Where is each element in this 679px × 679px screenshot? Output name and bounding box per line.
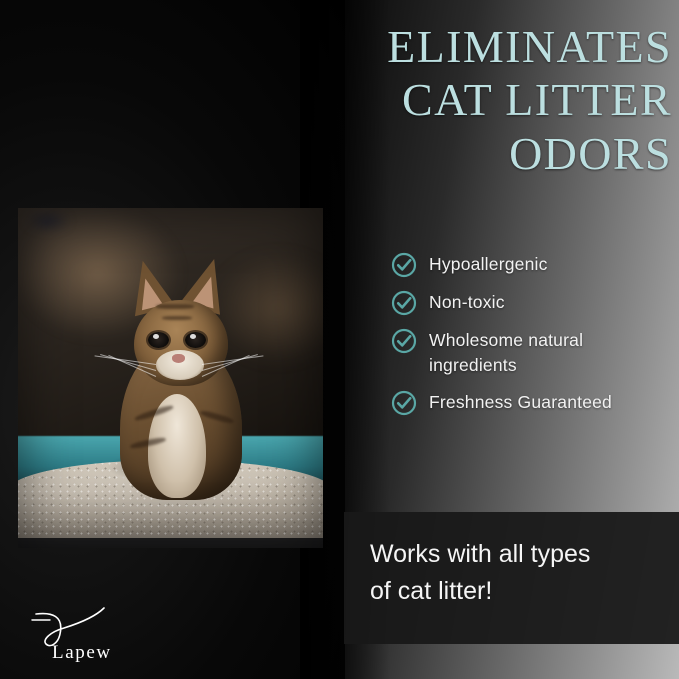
kitten bbox=[104, 244, 254, 504]
brand-wordmark: Lapew bbox=[52, 642, 112, 664]
feature-label: Hypoallergenic bbox=[429, 252, 548, 277]
check-circle-icon bbox=[391, 252, 417, 278]
kitten-nose bbox=[172, 354, 185, 363]
brand-logo: Lapew bbox=[30, 604, 160, 666]
kitten-stripe bbox=[156, 304, 194, 309]
kitten-eye-highlight-right bbox=[190, 334, 196, 339]
headline: ELIMINATES CAT LITTER ODORS bbox=[300, 20, 672, 180]
feature-item: Non-toxic bbox=[391, 290, 673, 316]
check-circle-icon bbox=[391, 390, 417, 416]
feature-item: Hypoallergenic bbox=[391, 252, 673, 278]
feature-item: Freshness Guaranteed bbox=[391, 390, 673, 416]
feature-item: Wholesome natural ingredients bbox=[391, 328, 673, 378]
kitten-stripe bbox=[162, 316, 192, 320]
headline-line-1: ELIMINATES bbox=[300, 20, 672, 73]
check-circle-icon bbox=[391, 328, 417, 354]
kitten-eye-highlight-left bbox=[153, 334, 159, 339]
feature-label: Non-toxic bbox=[429, 290, 505, 315]
feature-label: Wholesome natural ingredients bbox=[429, 328, 661, 378]
headline-line-3: ODORS bbox=[300, 127, 672, 180]
feature-label: Freshness Guaranteed bbox=[429, 390, 612, 415]
caption-line-1: Works with all types bbox=[370, 536, 660, 573]
check-circle-icon bbox=[391, 290, 417, 316]
product-ad-image: ELIMINATES CAT LITTER ODORS Hypoallergen… bbox=[0, 0, 679, 679]
feature-list: Hypoallergenic Non-toxic Wholesome natur… bbox=[391, 252, 673, 416]
kitten-photo bbox=[18, 208, 323, 548]
caption-line-2: of cat litter! bbox=[370, 573, 660, 610]
caption-panel: Works with all types of cat litter! bbox=[344, 512, 679, 644]
caption-text: Works with all types of cat litter! bbox=[370, 536, 660, 610]
headline-line-2: CAT LITTER bbox=[300, 73, 672, 126]
